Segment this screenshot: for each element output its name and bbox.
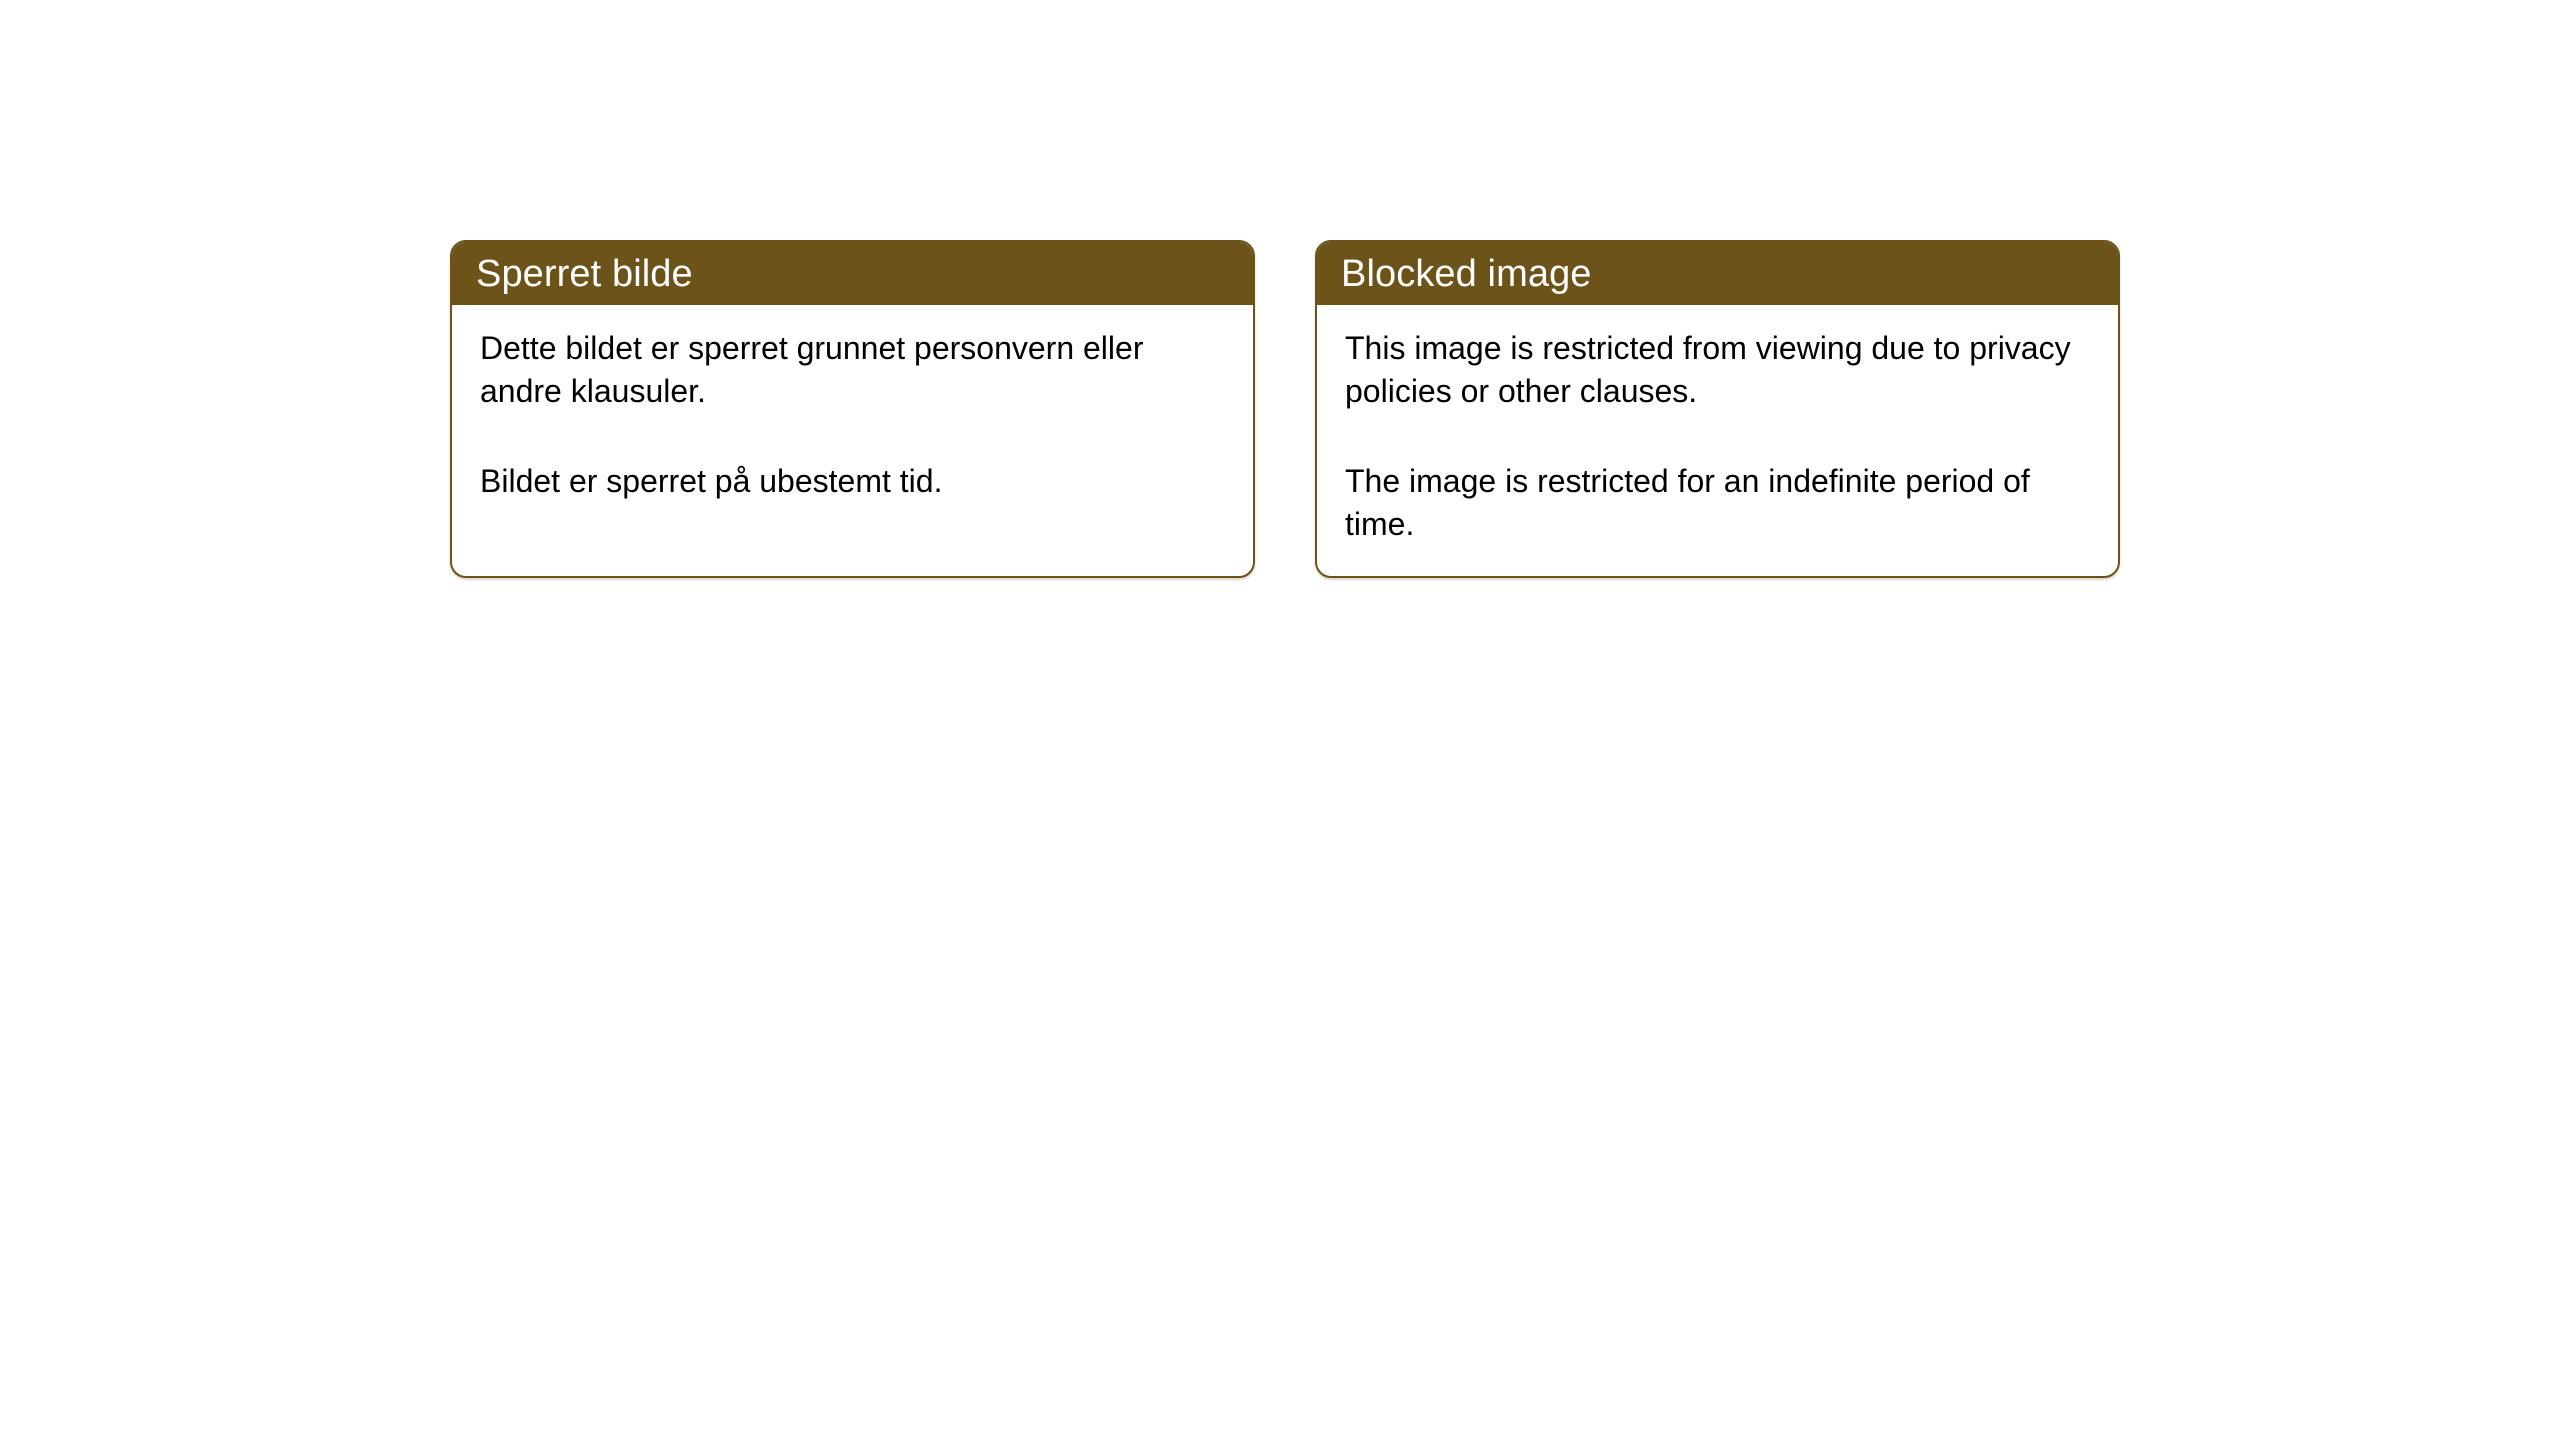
blocked-image-notice-card-norwegian: Sperret bilde Dette bildet er sperret gr… [450,240,1255,578]
card-body-english: This image is restricted from viewing du… [1317,305,2118,545]
card-paragraph-primary-english: This image is restricted from viewing du… [1345,327,2090,412]
card-paragraph-primary-norwegian: Dette bildet er sperret grunnet personve… [480,327,1225,412]
card-header-norwegian: Sperret bilde [452,242,1253,305]
card-paragraph-secondary-norwegian: Bildet er sperret på ubestemt tid. [480,460,1225,503]
card-body-norwegian: Dette bildet er sperret grunnet personve… [452,305,1253,503]
card-title-norwegian: Sperret bilde [476,255,693,293]
blocked-image-notice-card-english: Blocked image This image is restricted f… [1315,240,2120,578]
card-title-english: Blocked image [1341,255,1592,293]
card-header-english: Blocked image [1317,242,2118,305]
card-paragraph-secondary-english: The image is restricted for an indefinit… [1345,460,2090,545]
page-canvas: Sperret bilde Dette bildet er sperret gr… [0,0,2560,1440]
